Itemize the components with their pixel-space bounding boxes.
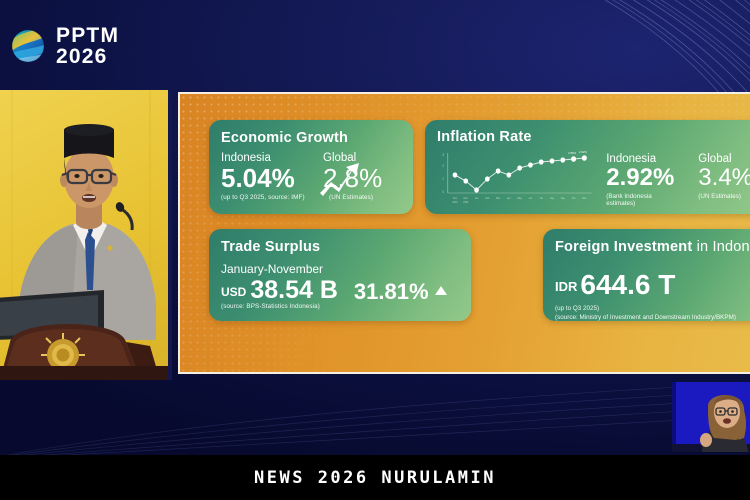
- svg-text:Nov: Nov: [582, 197, 587, 200]
- foreign-investment-value: 644.6 T: [580, 271, 675, 299]
- inflation-indonesia-value: 2.92%: [606, 166, 674, 190]
- inflation-global-note: (UN Estimates): [698, 193, 750, 200]
- svg-text:2024: 2024: [463, 201, 469, 204]
- svg-text:2: 2: [442, 164, 444, 168]
- inflation-indonesia-note: (Bank Indonesia estimates): [606, 193, 674, 207]
- svg-text:2.86%: 2.86%: [568, 151, 576, 155]
- up-triangle-icon: [435, 286, 447, 295]
- caption-text: NEWS 2026 NURULAMIN: [254, 468, 496, 488]
- speaker-video-feed: [0, 90, 172, 380]
- caption-bar: NEWS 2026 NURULAMIN: [0, 455, 750, 500]
- svg-text:Feb: Feb: [485, 197, 490, 200]
- svg-text:Jul: Jul: [540, 197, 543, 200]
- trade-surplus-value: 38.54 B: [250, 278, 338, 303]
- broadcast-screen: PPTM 2026: [0, 0, 750, 500]
- svg-text:0: 0: [442, 190, 444, 194]
- svg-text:Jun: Jun: [529, 197, 533, 200]
- inflation-global-value: 3.4%: [698, 166, 750, 190]
- globe-swoosh-logo-icon: [8, 20, 48, 72]
- card-trade-surplus-title: Trade Surplus: [221, 239, 459, 255]
- logo-text: PPTM 2026: [56, 25, 119, 67]
- card-foreign-investment: Foreign Investment in Indonesia IDR 644.…: [543, 229, 750, 321]
- speaker-person: [0, 90, 172, 380]
- sign-language-interpreter-inset: [672, 382, 750, 452]
- foreign-investment-title-thin: in Indonesia: [692, 239, 750, 255]
- trade-surplus-note: (source: BPS-Statistics Indonesia): [221, 303, 459, 310]
- inflation-line-chart: 0123 2.86%2.92%: [437, 149, 594, 207]
- svg-text:2.92%: 2.92%: [579, 150, 587, 154]
- card-inflation-rate: Inflation Rate 0123: [425, 120, 750, 214]
- svg-text:Mar: Mar: [496, 197, 500, 200]
- svg-text:Apr: Apr: [507, 197, 511, 200]
- up-arrow-icon: [318, 160, 360, 198]
- trade-surplus-currency: USD: [221, 285, 246, 303]
- card-economic-growth-title: Economic Growth: [221, 130, 401, 146]
- svg-text:3: 3: [442, 153, 444, 157]
- economic-growth-indonesia-note: (up to Q3 2025, source: IMF): [221, 194, 329, 201]
- foreign-investment-title-bold: Foreign Investment: [555, 239, 692, 255]
- presentation-slide: Economic Growth Indonesia 5.04% Global 2…: [178, 92, 750, 374]
- svg-text:Nov: Nov: [453, 197, 458, 200]
- logo-line2: 2026: [56, 46, 119, 67]
- svg-text:Jan: Jan: [475, 197, 479, 200]
- trade-surplus-change: 31.81%: [354, 281, 429, 303]
- speaker-frame-edge: [168, 90, 172, 380]
- card-inflation-rate-title: Inflation Rate: [437, 129, 750, 145]
- channel-logo: PPTM 2026: [8, 20, 119, 72]
- trade-surplus-period: January-November: [221, 262, 459, 276]
- svg-text:1: 1: [442, 177, 444, 181]
- card-foreign-investment-title: Foreign Investment in Indonesia: [555, 239, 750, 255]
- svg-text:Dec: Dec: [464, 197, 469, 200]
- economic-growth-indonesia-value: 5.04%: [221, 165, 317, 191]
- svg-text:2024: 2024: [452, 201, 458, 204]
- card-trade-surplus: Trade Surplus January-November USD 38.54…: [209, 229, 471, 321]
- svg-text:Oct: Oct: [572, 197, 576, 200]
- foreign-investment-note-2: (source: Ministry of Investment and Down…: [555, 313, 750, 321]
- svg-text:Sep: Sep: [561, 197, 566, 200]
- logo-line1: PPTM: [56, 25, 119, 46]
- svg-text:Aug: Aug: [550, 197, 555, 200]
- foreign-investment-currency: IDR: [555, 279, 577, 299]
- card-economic-growth: Economic Growth Indonesia 5.04% Global 2…: [209, 120, 413, 214]
- foreign-investment-note-1: (up to Q3 2025): [555, 304, 750, 313]
- svg-text:May: May: [517, 197, 522, 200]
